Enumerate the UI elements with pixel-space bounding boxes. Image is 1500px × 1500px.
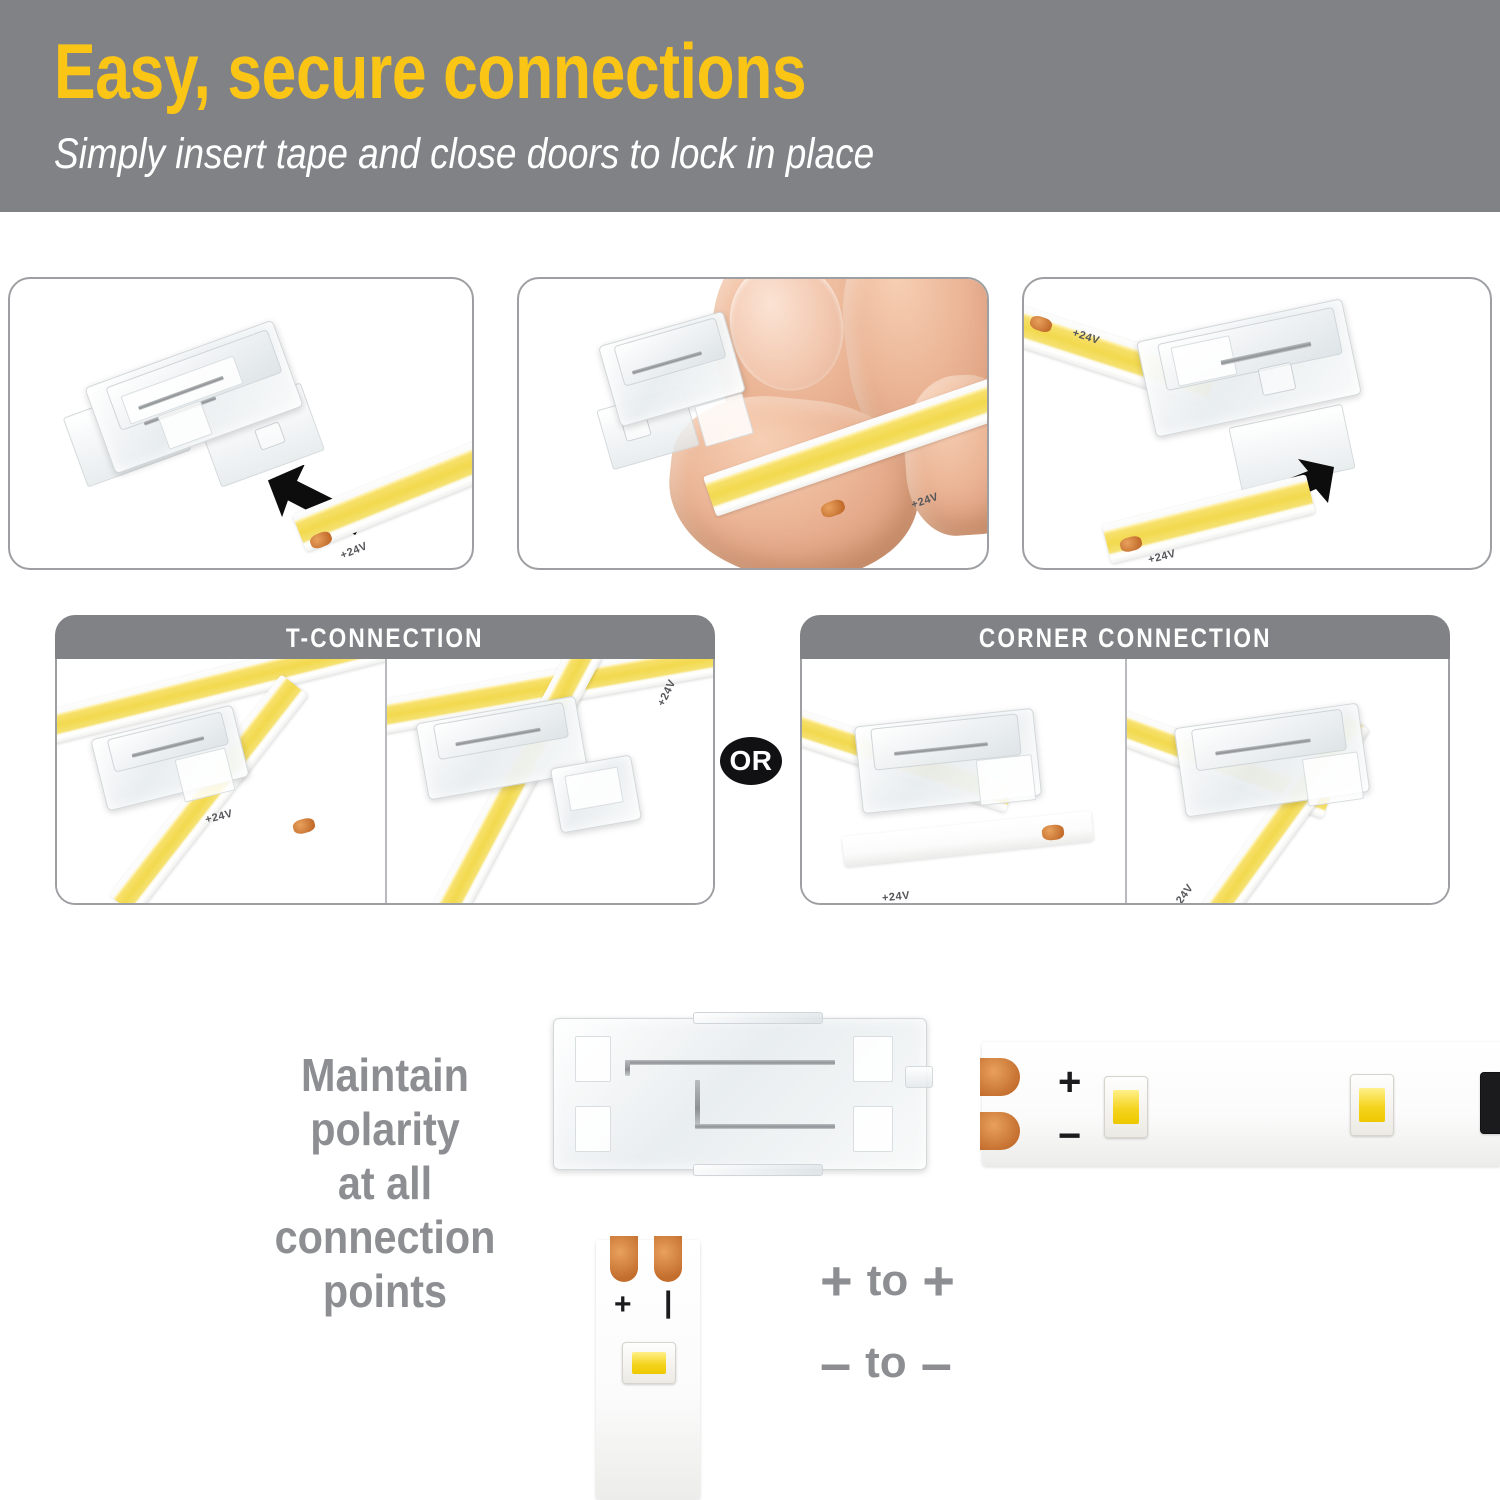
connector-contact-top-leg	[625, 1060, 630, 1076]
step-panel-insert-strip: +24V	[8, 277, 474, 570]
polarity-legend: + to + – to –	[820, 1240, 955, 1404]
subpanel-corner-right: +24V	[1125, 659, 1448, 903]
legend-minus-left: –	[820, 1322, 851, 1404]
section-body-t-connection: +24V +24V	[55, 659, 715, 905]
connector-tab-right	[905, 1066, 933, 1088]
led-emitter-1	[632, 1352, 665, 1374]
subpanel-corner-left: +24V	[802, 659, 1125, 903]
section-corner-connection: CORNER CONNECTION +24V	[800, 615, 1450, 905]
led-emitter-2	[1359, 1088, 1386, 1122]
legend-minus-right: –	[921, 1322, 952, 1404]
led-strip-horizontal: + −	[982, 1042, 1500, 1166]
polarity-heading-line-2: polarity	[247, 1102, 522, 1156]
connector-contact-bottom	[695, 1124, 835, 1129]
page-subtitle: Simply insert tape and close doors to lo…	[54, 128, 1298, 180]
legend-word-to-plus: to	[867, 1240, 909, 1322]
section-header-corner-connection: CORNER CONNECTION	[800, 615, 1450, 661]
connector-lid-tab-bottom	[693, 1164, 823, 1176]
or-badge: OR	[720, 737, 782, 785]
led-chip-3-cut	[1480, 1072, 1500, 1134]
polarity-heading-line-4: connection	[247, 1210, 522, 1264]
photo-hand-press: +24V	[519, 279, 987, 568]
connector-contact-bridge	[695, 1080, 700, 1128]
tape-voltage-label: +24V	[339, 540, 369, 562]
pad-negative	[654, 1236, 682, 1282]
legend-word-to-minus: to	[865, 1322, 907, 1404]
legend-plus-left: +	[820, 1240, 853, 1322]
polarity-heading-line-5: points	[247, 1264, 522, 1318]
section-body-corner-connection: +24V +24V	[800, 659, 1450, 905]
connector-side-rib-bl	[575, 1106, 611, 1152]
connector-lid-tab-top	[693, 1012, 823, 1024]
led-chip-2	[1350, 1074, 1394, 1136]
photo-insert-strip: +24V	[10, 279, 472, 568]
connector-latch	[1302, 751, 1364, 806]
legend-plus-right: +	[922, 1240, 955, 1322]
step-panel-insert-second: +24V +24V	[1022, 277, 1492, 570]
tape-solder-pad	[292, 817, 317, 836]
pad-positive	[610, 1236, 638, 1282]
polarity-legend-row-plus: + to +	[820, 1240, 955, 1322]
section-header-t-connection: T-CONNECTION	[55, 615, 715, 661]
polarity-legend-row-minus: – to –	[820, 1322, 955, 1404]
polarity-sign-minus: −	[1058, 1116, 1081, 1156]
connector-side-rib-br	[853, 1106, 893, 1152]
polarity-heading: Maintain polarity at all connection poin…	[232, 1048, 538, 1318]
connector-side-rib-tl	[575, 1036, 611, 1082]
led-chip-1	[622, 1342, 676, 1384]
polarity-sign-plus: +	[614, 1290, 632, 1320]
photo-insert-second: +24V +24V	[1024, 279, 1490, 568]
connector-side-rib-tr	[853, 1036, 893, 1082]
tape-voltage-label: +24V	[881, 890, 910, 903]
header-banner: Easy, secure connections Simply insert t…	[0, 0, 1500, 212]
section-title-corner: CORNER CONNECTION	[979, 623, 1272, 654]
polarity-sign-plus: +	[1058, 1062, 1081, 1102]
connector-latch	[976, 754, 1037, 806]
page-title: Easy, secure connections	[54, 30, 1211, 112]
tape-voltage-label: +24V	[1170, 882, 1196, 903]
led-strip-vertical: + |	[596, 1240, 700, 1500]
section-t-connection: T-CONNECTION +24V	[55, 615, 715, 905]
pad-positive	[980, 1058, 1020, 1096]
connector-top-view	[553, 1012, 933, 1182]
led-emitter-1	[1113, 1090, 1140, 1124]
section-title-t: T-CONNECTION	[286, 623, 484, 654]
subpanel-t-left: +24V	[57, 659, 385, 903]
subpanel-t-right: +24V	[385, 659, 713, 903]
infographic-page: Easy, secure connections Simply insert t…	[0, 0, 1500, 1500]
polarity-heading-line-1: Maintain	[247, 1048, 522, 1102]
step-panel-hand-press: +24V	[517, 277, 989, 570]
polarity-sign-minus: |	[664, 1288, 672, 1318]
connector-contact-top	[625, 1060, 835, 1065]
led-chip-1	[1104, 1076, 1148, 1138]
polarity-heading-line-3: at all	[247, 1156, 522, 1210]
or-label: OR	[730, 745, 773, 777]
pad-negative	[980, 1112, 1020, 1150]
